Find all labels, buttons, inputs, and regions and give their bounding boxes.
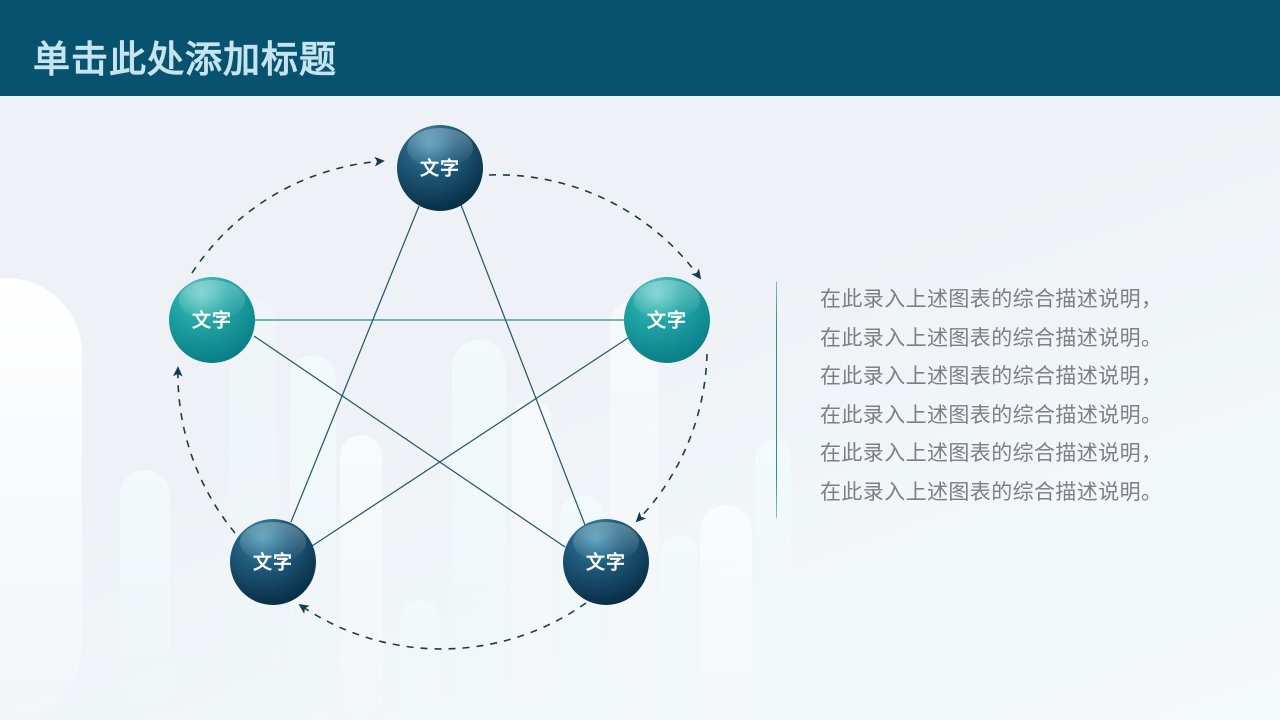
panel-text-lines: 在此录入上述图表的综合描述说明， 在此录入上述图表的综合描述说明。 在此录入上述… (820, 280, 1240, 511)
node-left[interactable]: 文字 (169, 277, 255, 363)
arc-bottom-right-to-bottom-left (300, 603, 586, 649)
arc-right-to-bottom-right (637, 354, 707, 521)
star-edge-top-to-bottom-right (461, 205, 585, 525)
panel-line: 在此录入上述图表的综合描述说明， (820, 357, 1240, 396)
node-bottom-left[interactable]: 文字 (230, 519, 316, 605)
node-bottom-right-label: 文字 (586, 551, 626, 574)
page-title: 单击此处添加标题 (33, 37, 337, 83)
node-right-label: 文字 (647, 309, 687, 332)
node-bottom-left-label: 文字 (253, 551, 293, 574)
node-top[interactable]: 文字 (397, 125, 483, 211)
description-panel: 在此录入上述图表的综合描述说明， 在此录入上述图表的综合描述说明。 在此录入上述… (776, 282, 1246, 518)
arc-top-to-right (489, 175, 700, 278)
node-bottom-right[interactable]: 文字 (563, 519, 649, 605)
panel-line: 在此录入上述图表的综合描述说明。 (820, 473, 1240, 512)
node-left-label: 文字 (192, 309, 232, 332)
panel-line: 在此录入上述图表的综合描述说明， (820, 280, 1240, 319)
panel-line: 在此录入上述图表的综合描述说明。 (820, 396, 1240, 435)
arc-left-to-top (192, 161, 383, 273)
star-edges (254, 205, 628, 547)
panel-divider (776, 282, 777, 518)
panel-line: 在此录入上述图表的综合描述说明， (820, 434, 1240, 473)
slide-canvas: 单击此处添加标题 (0, 0, 1280, 720)
panel-line: 在此录入上述图表的综合描述说明。 (820, 319, 1240, 358)
node-right[interactable]: 文字 (624, 277, 710, 363)
arc-bottom-left-to-left (178, 368, 235, 533)
star-edge-bottom-right-to-left (254, 336, 565, 547)
star-edge-bottom-left-to-top (291, 206, 419, 522)
node-top-label: 文字 (420, 157, 460, 180)
pentagram-diagram: 文字 文字 文字 文字 文字 (0, 96, 780, 720)
